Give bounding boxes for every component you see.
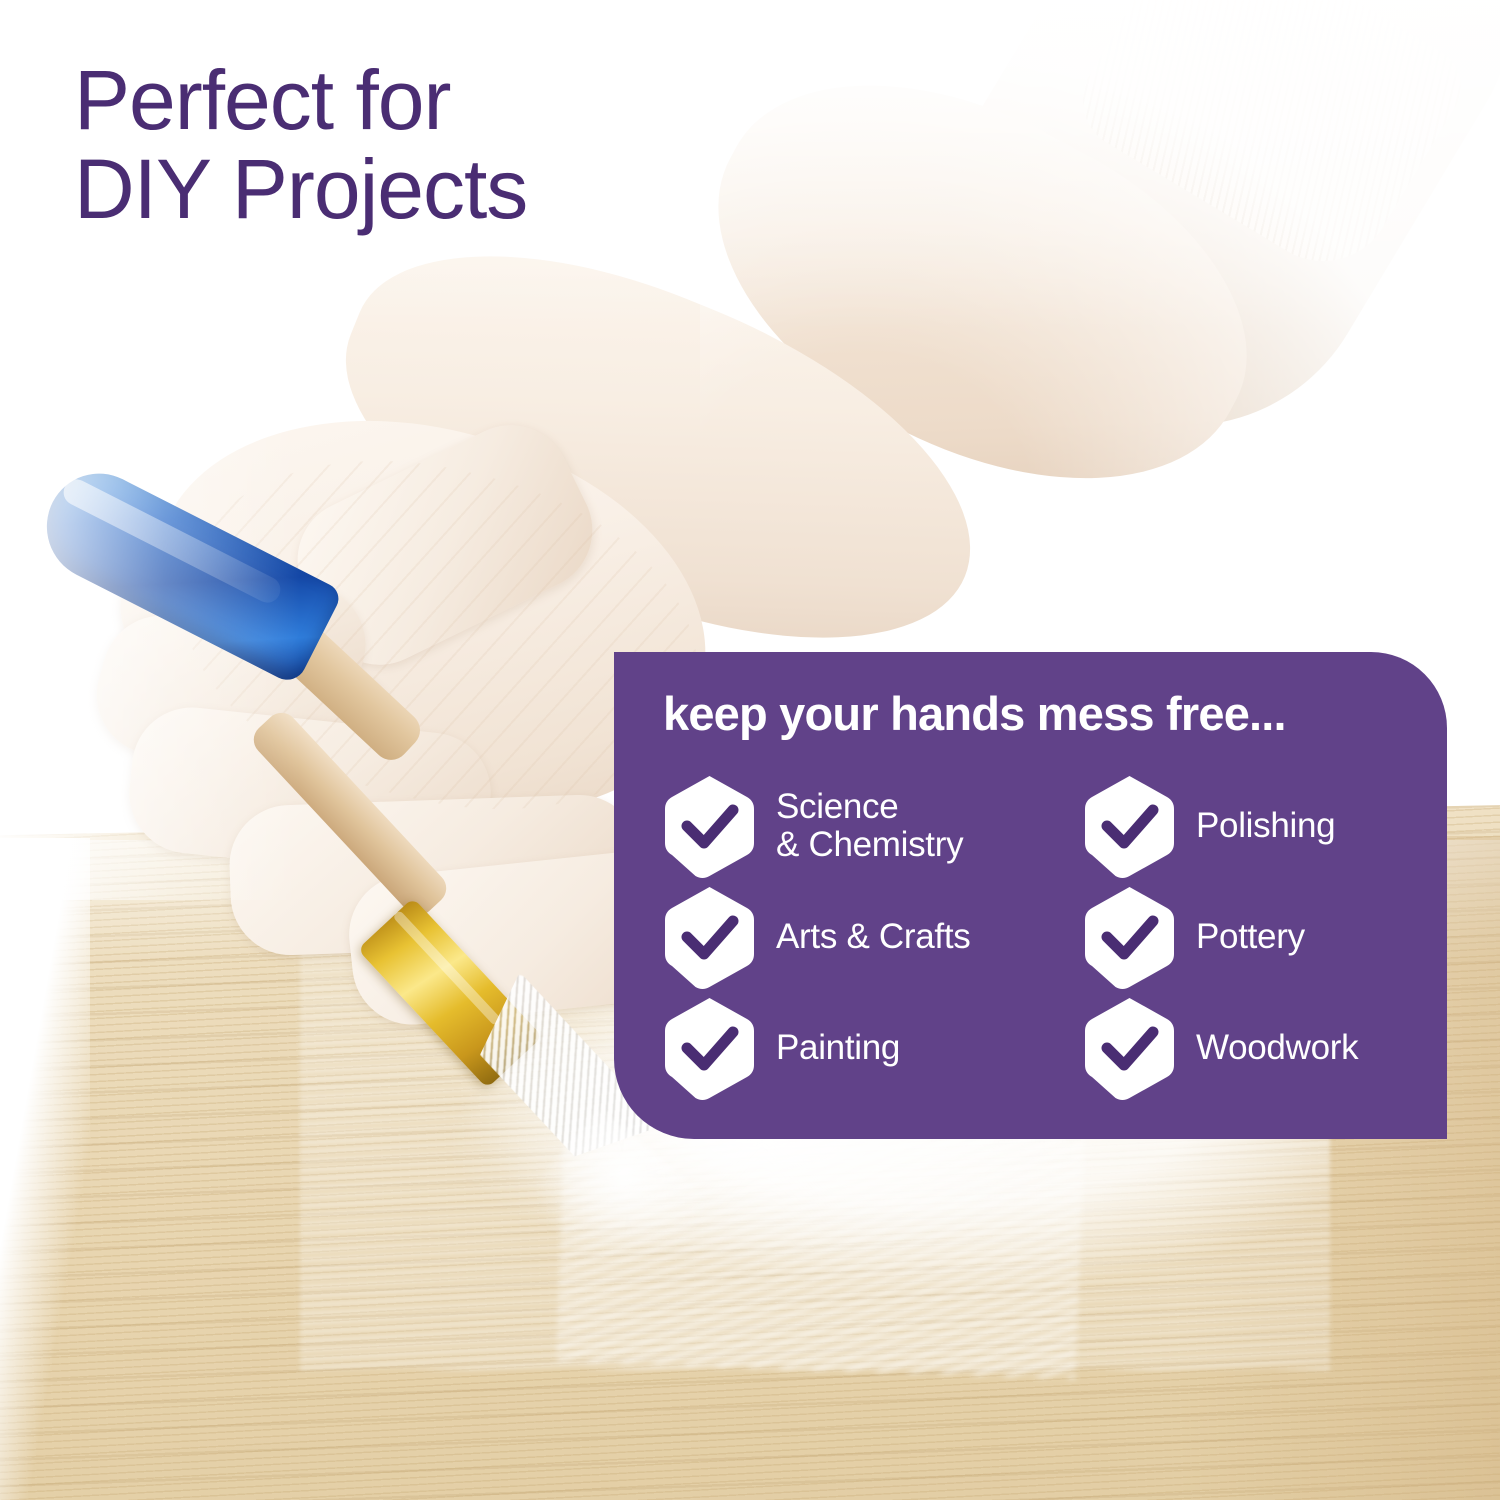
feature-item-label: Painting: [776, 1029, 900, 1066]
feature-item-label: Woodwork: [1196, 1029, 1358, 1066]
features-card: keep your hands mess free... Science & C…: [614, 652, 1447, 1139]
feature-item-label: Arts & Crafts: [776, 918, 970, 955]
feature-item-label: Polishing: [1196, 807, 1335, 844]
page-title: Perfect for DIY Projects: [74, 56, 714, 234]
feature-item-science-chemistry: Science & Chemistry: [663, 770, 1083, 881]
check-hexagon-icon: [1083, 774, 1176, 878]
product-marketing-image: Perfect for DIY Projects keep your hands…: [0, 0, 1500, 1500]
feature-item-arts-crafts: Arts & Crafts: [663, 881, 1083, 992]
check-hexagon-icon: [663, 885, 756, 989]
feature-item-painting: Painting: [663, 992, 1083, 1103]
check-hexagon-icon: [663, 774, 756, 878]
feature-item-pottery: Pottery: [1083, 881, 1423, 992]
feature-item-label: Science & Chemistry: [776, 788, 963, 862]
feature-item-label: Pottery: [1196, 918, 1305, 955]
check-hexagon-icon: [1083, 885, 1176, 989]
features-checklist: Science & Chemistry Polishing: [663, 770, 1423, 1103]
feature-item-woodwork: Woodwork: [1083, 992, 1423, 1103]
check-hexagon-icon: [1083, 996, 1176, 1100]
features-card-title: keep your hands mess free...: [663, 686, 1286, 741]
wood-edge: [0, 838, 90, 1500]
check-hexagon-icon: [663, 996, 756, 1100]
feature-item-polishing: Polishing: [1083, 770, 1423, 881]
